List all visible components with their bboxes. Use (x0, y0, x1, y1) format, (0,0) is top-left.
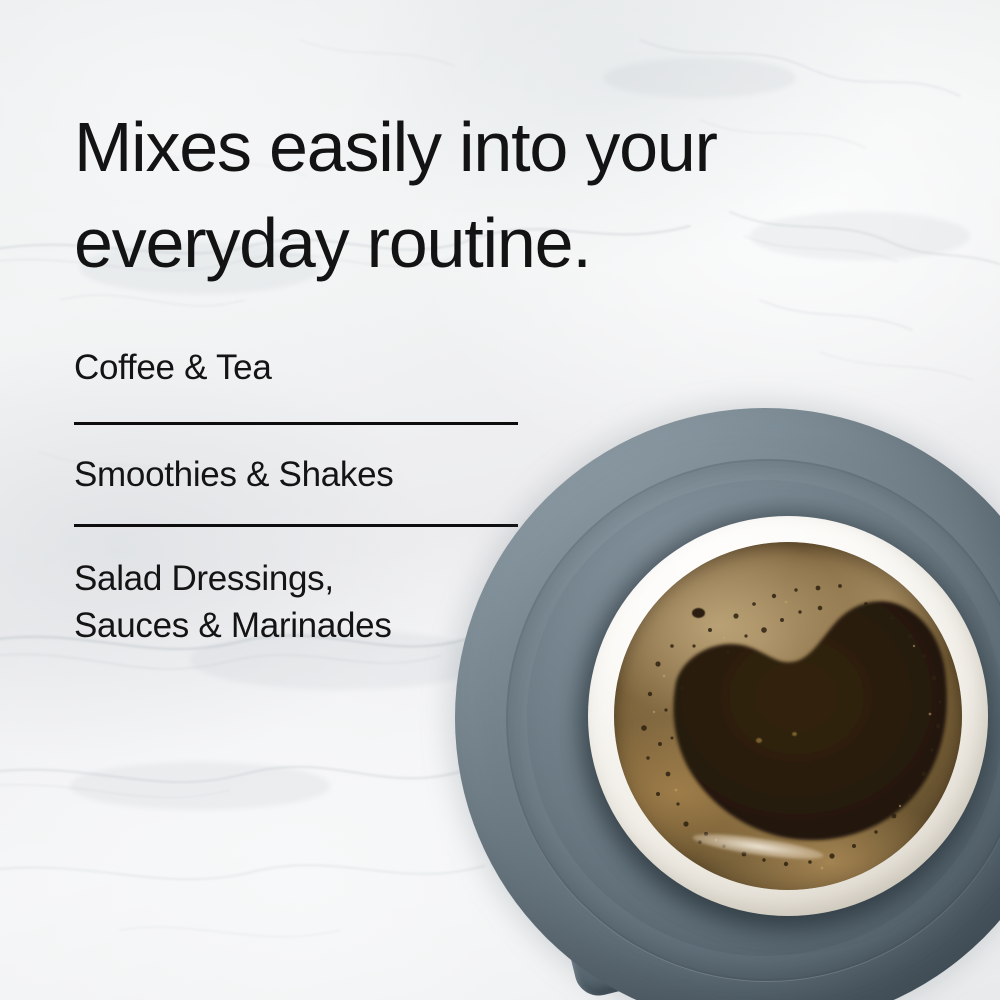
feature-list: Coffee & Tea Smoothies & Shakes Salad Dr… (74, 344, 522, 649)
spacer (74, 425, 522, 451)
coffee-cup (588, 516, 988, 916)
spacer (74, 498, 522, 524)
list-item: Coffee & Tea (74, 344, 522, 391)
coffee-ground-speck (756, 738, 762, 743)
list-item: Smoothies & Shakes (74, 451, 522, 498)
spacer (74, 391, 522, 422)
cup-interior (614, 542, 962, 890)
coffee-crema (614, 542, 962, 890)
spacer (74, 527, 522, 555)
coffee-ground-speck (692, 608, 705, 618)
feature-label-smoothies-shakes: Smoothies & Shakes (74, 451, 522, 498)
coffee-ground-speck (792, 732, 797, 736)
product-lifestyle-banner: Mixes easily into your everyday routine.… (0, 0, 1000, 1000)
feature-label-coffee-tea: Coffee & Tea (74, 344, 522, 391)
crema-bubbles (614, 542, 962, 890)
page-headline: Mixes easily into your everyday routine. (74, 99, 834, 291)
